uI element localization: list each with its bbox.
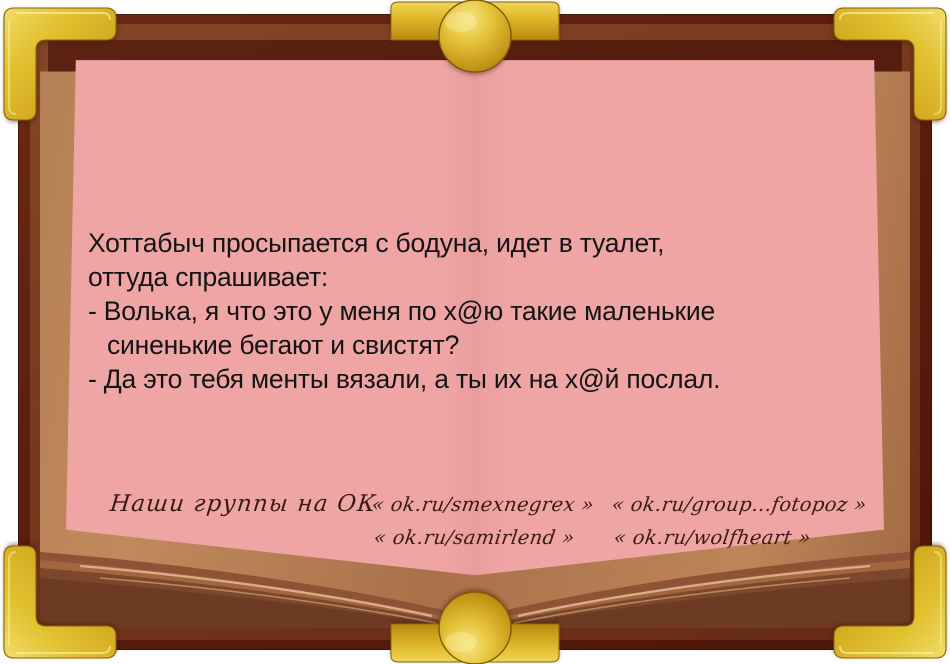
- corner-bracket-bottom-left: [2, 540, 122, 660]
- group-link[interactable]: « ok.ru/smexnegrex »: [370, 488, 615, 521]
- joke-text-block: Хоттабыч просыпается с бодуна, идет в ту…: [88, 226, 878, 396]
- gold-corner-bracket-icon: [828, 6, 948, 126]
- footer-row: « ok.ru/samirlend » « ok.ru/wolfheart »: [110, 521, 870, 554]
- joke-card: Хоттабыч просыпается с бодуна, идет в ту…: [0, 0, 950, 664]
- gold-clasp-ornament-icon: [387, 0, 563, 74]
- corner-bracket-top-left: [2, 6, 122, 126]
- footer-credits: Наши группы на ОК « ok.ru/smexnegrex » «…: [110, 488, 870, 554]
- joke-line: - Да это тебя менты вязали, а ты их на х…: [88, 362, 878, 396]
- group-link[interactable]: « ok.ru/wolfheart »: [612, 521, 813, 554]
- group-link[interactable]: « ok.ru/group...fotopoz »: [610, 488, 869, 521]
- joke-line: - Волька, я что это у меня по х@ю такие …: [88, 294, 878, 328]
- joke-line: Хоттабыч просыпается с бодуна, идет в ту…: [88, 226, 878, 260]
- gold-clasp-ornament-icon: [387, 590, 563, 664]
- clasp-ornament-top: [387, 0, 563, 74]
- group-link[interactable]: « ok.ru/samirlend »: [372, 521, 617, 554]
- gold-corner-bracket-icon: [828, 540, 948, 660]
- footer-row: Наши группы на ОК « ok.ru/smexnegrex » «…: [110, 488, 870, 521]
- clasp-ornament-bottom: [387, 590, 563, 664]
- corner-bracket-top-right: [828, 6, 948, 126]
- joke-line: оттуда спрашивает:: [88, 260, 878, 294]
- gold-corner-bracket-icon: [2, 6, 122, 126]
- footer-label: Наши группы на ОК: [108, 488, 373, 521]
- gold-corner-bracket-icon: [2, 540, 122, 660]
- corner-bracket-bottom-right: [828, 540, 948, 660]
- joke-line: синенькие бегают и свистят?: [88, 328, 878, 362]
